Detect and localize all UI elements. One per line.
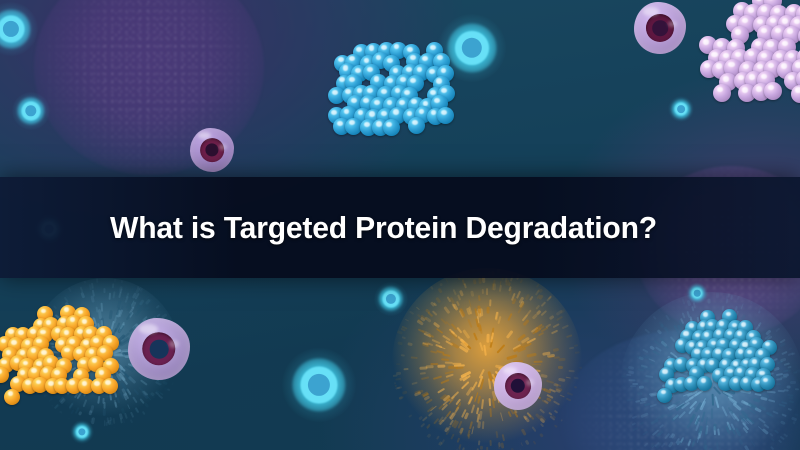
glow-cell-bottomleft-tiny	[70, 420, 94, 444]
protein-sphere	[408, 117, 425, 134]
glow-cell-bottomcenter-large	[282, 348, 356, 422]
protein-sphere	[383, 119, 400, 136]
glow-core	[677, 105, 685, 113]
protein-cluster-blue-bottomright	[658, 310, 754, 418]
protein-sphere	[4, 389, 20, 405]
protein-sphere	[657, 388, 672, 403]
cell-highlight	[643, 7, 659, 15]
protein-sphere	[764, 82, 782, 100]
glow-cell-topleft-small	[12, 92, 50, 130]
glow-cell-center-small	[374, 282, 408, 316]
particle-burst-orange-center	[392, 268, 582, 450]
cell-purple-bottom-left	[128, 318, 190, 380]
protein-cluster-lavender-topright	[700, 0, 800, 120]
cell-purple-bottom-center	[494, 362, 542, 410]
glow-cell-topright-large	[438, 14, 506, 82]
glow-cell-midright-small	[668, 96, 694, 122]
glow-core	[694, 290, 701, 297]
burst-particles	[392, 268, 582, 450]
glow-cell-bottomright-tiny	[686, 282, 708, 304]
cell-purple-upper-left	[190, 128, 234, 172]
protein-sphere	[760, 375, 775, 390]
protein-cluster-orange-bottomleft	[0, 306, 92, 418]
cell-highlight	[139, 324, 158, 334]
cell-nucleolus	[150, 340, 169, 359]
protein-sphere	[697, 376, 712, 391]
title-slide: What is Targeted Protein Degradation?	[0, 0, 800, 450]
protein-sphere	[713, 84, 731, 102]
protein-sphere	[791, 85, 800, 103]
cell-nucleolus	[652, 20, 668, 36]
title-banner: What is Targeted Protein Degradation?	[0, 177, 800, 278]
protein-sphere	[102, 378, 118, 394]
cell-highlight-secondary	[219, 144, 226, 150]
protein-cluster-blue-top	[322, 32, 426, 150]
cell-highlight-secondary	[526, 379, 534, 385]
cell-purple-top-right	[634, 2, 686, 54]
page-title: What is Targeted Protein Degradation?	[110, 210, 657, 246]
